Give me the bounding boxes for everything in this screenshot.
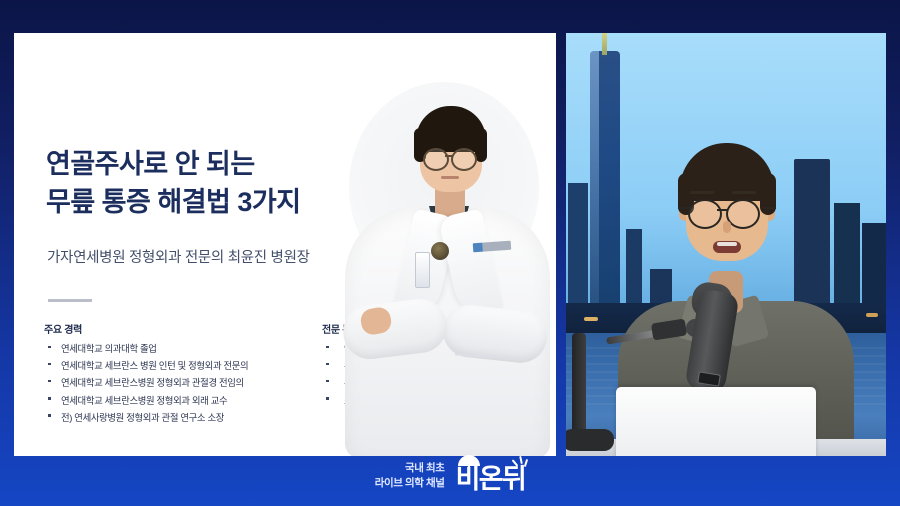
- tagline-line-2: 라이브 의학 채널: [375, 476, 445, 491]
- host-nose: [723, 221, 731, 233]
- host-glasses-lens-right: [726, 199, 760, 229]
- host-glasses-bridge: [717, 209, 728, 211]
- laptop-screen: [616, 387, 816, 456]
- id-badge: [415, 252, 430, 288]
- list-item: 연세대학교 세브란스병원 정형외과 외래 교수: [44, 393, 294, 407]
- tower-highlight: [590, 51, 599, 313]
- career-heading: 주요 경력: [44, 321, 294, 336]
- host-mouth: [713, 241, 741, 253]
- sparkle-icon: [513, 456, 529, 470]
- channel-branding: 국내 최초 라이브 의학 채널 비온뒤: [0, 454, 900, 498]
- building-4: [794, 159, 830, 319]
- city-light-2: [866, 313, 878, 317]
- slide-content: 연골주사로 안 되는 무릎 통증 해결법 3가지 가자연세병원 정형외과 전문의…: [14, 33, 556, 456]
- mic-stand: [572, 333, 586, 441]
- slide-divider: [48, 299, 92, 302]
- glasses-lens-right: [451, 148, 477, 171]
- glasses-lens-left: [423, 148, 449, 171]
- list-item: 연세대학교 세브란스병원 정형외과 관절경 전임의: [44, 375, 294, 389]
- list-item: 연세대학교 의과대학 졸업: [44, 341, 294, 355]
- tagline-line-1: 국내 최초: [375, 461, 445, 476]
- mic-base: [566, 429, 614, 451]
- doctor-portrait: [337, 56, 556, 456]
- career-list: 연세대학교 의과대학 졸업 연세대학교 세브란스 병원 인턴 및 정형외과 전문…: [44, 341, 294, 424]
- list-item: 전) 연세사랑병원 정형외과 관절 연구소 소장: [44, 410, 294, 424]
- building-2: [568, 183, 588, 313]
- broadcast-stage: 연골주사로 안 되는 무릎 통증 해결법 3가지 가자연세병원 정형외과 전문의…: [0, 0, 900, 506]
- live-video-panel[interactable]: [566, 33, 886, 456]
- building-5: [834, 203, 860, 319]
- city-light-1: [584, 317, 598, 321]
- host-glasses-arm-right: [764, 207, 776, 209]
- glasses-bridge: [445, 155, 453, 157]
- mouth: [441, 176, 459, 179]
- list-item: 연세대학교 세브란스 병원 인턴 및 정형외과 전문의: [44, 358, 294, 372]
- host-glasses-arm-left: [678, 207, 690, 209]
- host-glasses-lens-left: [688, 199, 722, 229]
- presentation-slide: 연골주사로 안 되는 무릎 통증 해결법 3가지 가자연세병원 정형외과 전문의…: [14, 33, 556, 456]
- host-eyebrow-left: [690, 191, 714, 194]
- career-column: 주요 경력 연세대학교 의과대학 졸업 연세대학교 세브란스 병원 인턴 및 정…: [44, 321, 294, 427]
- channel-tagline: 국내 최초 라이브 의학 채널: [375, 461, 445, 491]
- umbrella-stick: [468, 464, 470, 471]
- hospital-emblem: [431, 242, 449, 260]
- umbrella-icon: [458, 455, 480, 466]
- channel-logo[interactable]: 비온뒤: [456, 460, 526, 493]
- host-eyebrow-right: [732, 191, 756, 194]
